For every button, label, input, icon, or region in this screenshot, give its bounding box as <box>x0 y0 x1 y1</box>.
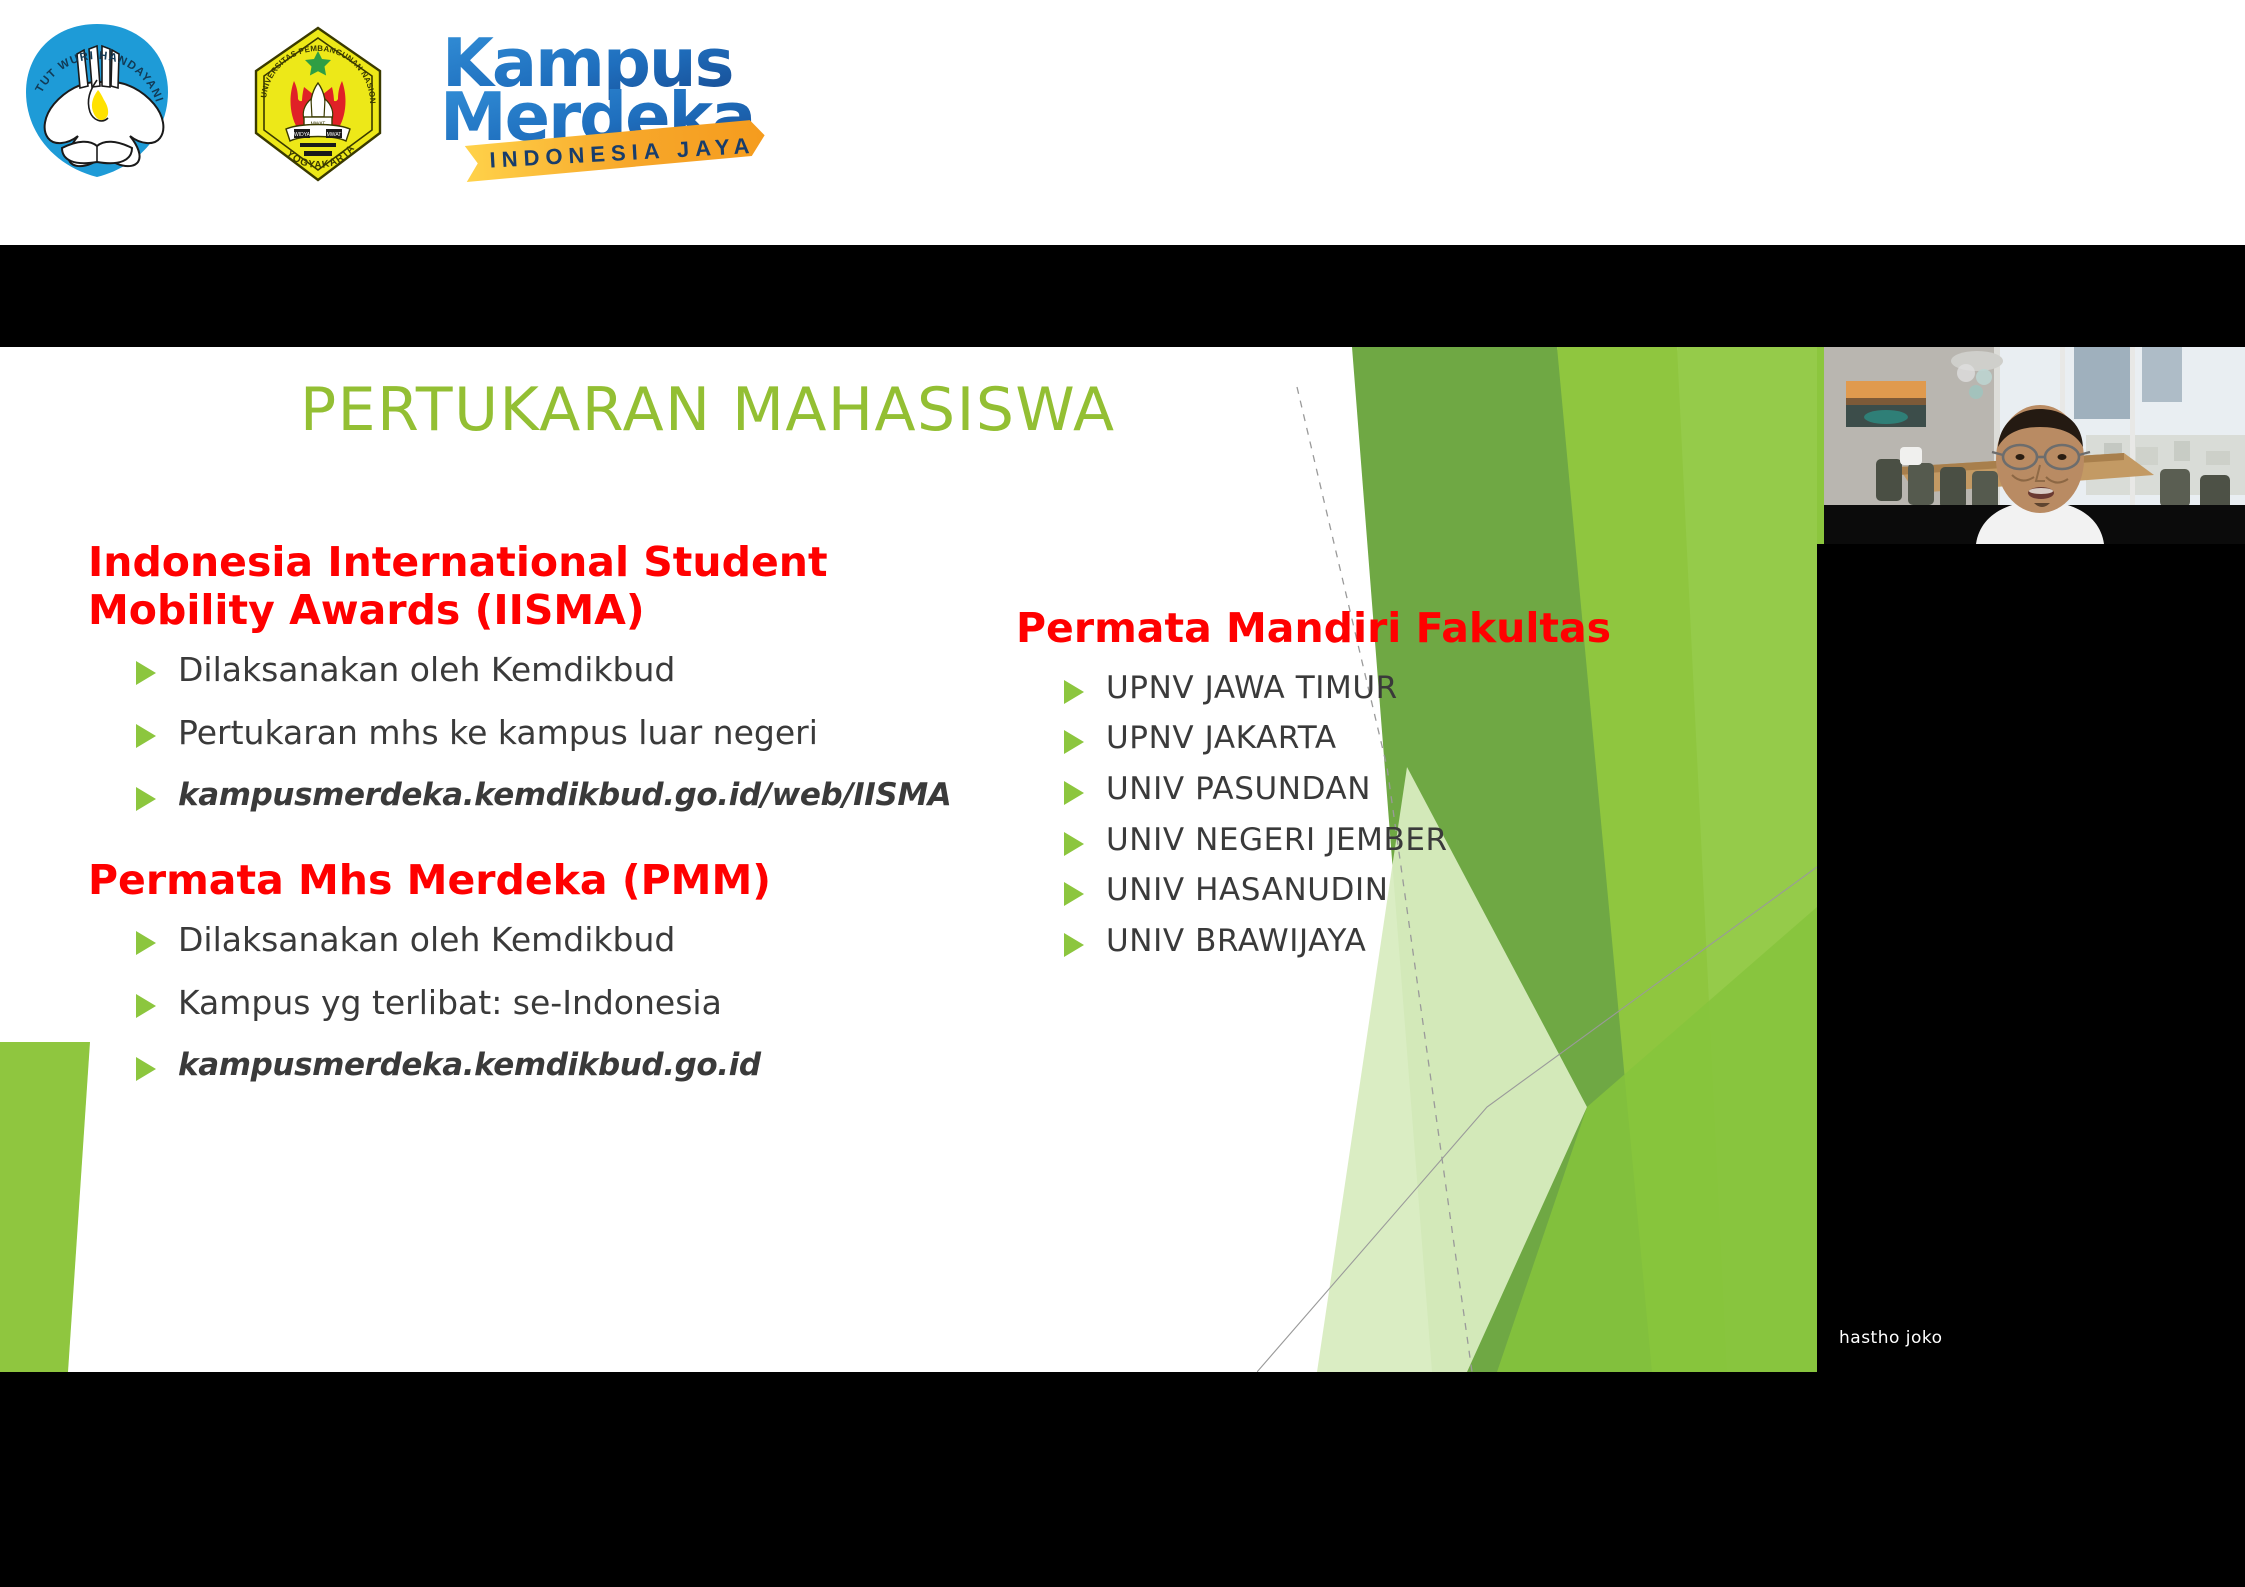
section-iisma-bullet-list: Dilaksanakan oleh Kemdikbud Pertukaran m… <box>88 652 878 813</box>
triangle-bullet-icon <box>1064 781 1084 805</box>
section-iisma-heading-line2: Mobility Awards (IISMA) <box>88 587 878 635</box>
bullet-text-url: kampusmerdeka.kemdikbud.go.id <box>178 1048 761 1083</box>
section-iisma-heading: Indonesia International Student Mobility… <box>88 539 878 634</box>
triangle-bullet-icon <box>1064 680 1084 704</box>
upn-ribbon-left-text: WIDYA <box>294 132 311 138</box>
list-item: Dilaksanakan oleh Kemdikbud <box>88 922 878 959</box>
list-item: UPNV JAWA TIMUR <box>1016 671 1516 706</box>
triangle-bullet-icon <box>1064 832 1084 856</box>
triangle-bullet-icon <box>136 1057 156 1081</box>
bullet-text-url: kampusmerdeka.kemdikbud.go.id/web/IISMA <box>178 778 951 813</box>
video-conference-region: PERTUKARAN MAHASISWA Indonesia Internati… <box>0 245 2245 1587</box>
screen-root: TUT WURI HANDAYANI <box>0 0 2245 1587</box>
list-item: kampusmerdeka.kemdikbud.go.id/web/IISMA <box>88 778 878 813</box>
list-item: kampusmerdeka.kemdikbud.go.id <box>88 1048 878 1083</box>
triangle-bullet-icon <box>136 787 156 811</box>
bullet-text: Dilaksanakan oleh Kemdikbud <box>178 652 675 689</box>
triangle-bullet-icon <box>1064 933 1084 957</box>
shared-slide[interactable]: PERTUKARAN MAHASISWA Indonesia Internati… <box>0 347 1817 1372</box>
kemdikbud-tut-wuri-handayani-logo: TUT WURI HANDAYANI <box>22 20 172 180</box>
list-item: UNIV HASANUDIN <box>1016 873 1516 908</box>
section-pmm: Permata Mhs Merdeka (PMM) Dilaksanakan o… <box>88 857 878 1083</box>
section-permata-mandiri-list: UPNV JAWA TIMUR UPNV JAKARTA UNIV PASUND… <box>1016 671 1516 959</box>
list-item: UNIV PASUNDAN <box>1016 772 1516 807</box>
triangle-bullet-icon <box>1064 730 1084 754</box>
slide-left-column: Indonesia International Student Mobility… <box>88 539 878 1109</box>
bullet-text: UNIV NEGERI JEMBER <box>1106 823 1448 858</box>
active-speaker-indicator <box>1817 347 1824 544</box>
list-item: Pertukaran mhs ke kampus luar negeri <box>88 715 878 752</box>
section-permata-mandiri-heading: Permata Mandiri Fakultas <box>1016 605 1516 653</box>
list-item: Kampus yg terlibat: se-Indonesia <box>88 985 878 1022</box>
triangle-bullet-icon <box>1064 882 1084 906</box>
participant-video-tile[interactable]: hastho joko <box>1817 347 2245 1372</box>
list-item: UPNV JAKARTA <box>1016 721 1516 756</box>
triangle-bullet-icon <box>136 931 156 955</box>
list-item: UNIV NEGERI JEMBER <box>1016 823 1516 858</box>
slide-title: PERTUKARAN MAHASISWA <box>300 375 1300 445</box>
bullet-text: UPNV JAKARTA <box>1106 721 1337 756</box>
section-pmm-bullet-list: Dilaksanakan oleh Kemdikbud Kampus yg te… <box>88 922 878 1083</box>
section-iisma: Indonesia International Student Mobility… <box>88 539 878 813</box>
section-iisma-heading-line1: Indonesia International Student <box>88 539 878 587</box>
participant-video-feed <box>1824 347 2245 544</box>
bullet-text: UNIV HASANUDIN <box>1106 873 1389 908</box>
bullet-text: Pertukaran mhs ke kampus luar negeri <box>178 715 818 752</box>
participant-name-label: hastho joko <box>1839 1328 1943 1348</box>
bullet-text: UNIV BRAWIJAYA <box>1106 924 1366 959</box>
list-item: Dilaksanakan oleh Kemdikbud <box>88 652 878 689</box>
bullet-text: Dilaksanakan oleh Kemdikbud <box>178 922 675 959</box>
kampus-merdeka-logo: Kampus Merdeka INDONESIA JAYA <box>440 22 785 190</box>
bullet-text: Kampus yg terlibat: se-Indonesia <box>178 985 722 1022</box>
upn-veteran-yogyakarta-logo: MWAT WIDYA MWAT UNIVERSITAS PEMBANGUNAN … <box>248 25 388 183</box>
slide-right-column: Permata Mandiri Fakultas UPNV JAWA TIMUR… <box>1016 605 1516 975</box>
header-logo-bar: TUT WURI HANDAYANI <box>0 0 2245 245</box>
upn-ribbon-right-text: MWAT <box>327 132 342 138</box>
letterbox-top-bar <box>0 245 2245 347</box>
bullet-text: UPNV JAWA TIMUR <box>1106 671 1398 706</box>
triangle-bullet-icon <box>136 994 156 1018</box>
triangle-bullet-icon <box>136 724 156 748</box>
section-pmm-heading: Permata Mhs Merdeka (PMM) <box>88 857 878 905</box>
bullet-text: UNIV PASUNDAN <box>1106 772 1371 807</box>
triangle-bullet-icon <box>136 661 156 685</box>
list-item: UNIV BRAWIJAYA <box>1016 924 1516 959</box>
